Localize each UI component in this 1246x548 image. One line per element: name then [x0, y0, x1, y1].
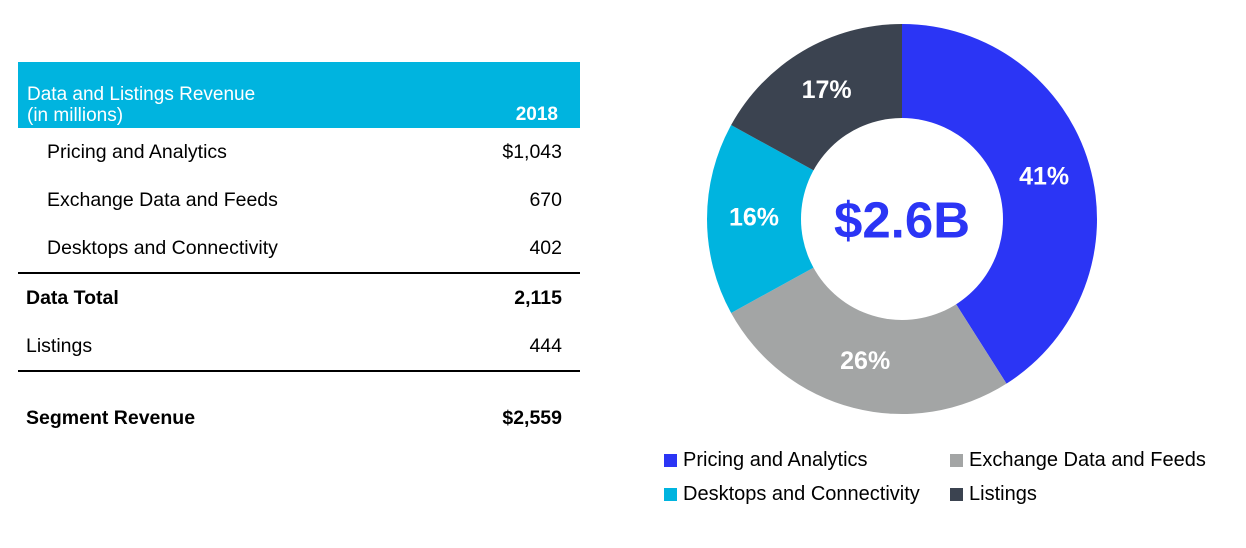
legend-item-exchange-data-and-feeds[interactable]: Exchange Data and Feeds	[950, 449, 1206, 472]
donut-chart-svg: $2.6B 41%26%16%17%	[692, 14, 1112, 424]
table-row: Exchange Data and Feeds 670	[18, 176, 580, 224]
legend-swatch-icon	[664, 454, 677, 467]
table-header-title: Data and Listings Revenue (in millions)	[27, 84, 255, 126]
table-row: Pricing and Analytics $1,043	[18, 128, 580, 176]
legend-label: Listings	[969, 483, 1037, 506]
table-row-label: Data Total	[18, 287, 119, 310]
legend-item-pricing-and-analytics[interactable]: Pricing and Analytics	[664, 449, 950, 472]
table-row-listings: Listings 444	[18, 322, 580, 370]
table-row-label: Pricing and Analytics	[18, 141, 227, 164]
table-row-label: Desktops and Connectivity	[18, 237, 278, 260]
donut-slice-percent-label: 17%	[802, 76, 852, 104]
legend-row: Pricing and Analytics Exchange Data and …	[664, 443, 1234, 477]
donut-slice-percent-label: 41%	[1019, 162, 1069, 190]
table-row-value: 2,115	[514, 287, 562, 310]
table-row-value: $2,559	[502, 407, 562, 430]
table-header-year: 2018	[516, 104, 558, 126]
legend-swatch-icon	[950, 454, 963, 467]
table-row: Desktops and Connectivity 402	[18, 224, 580, 272]
chart-legend: Pricing and Analytics Exchange Data and …	[664, 443, 1234, 511]
table-row-data-total: Data Total 2,115	[18, 274, 580, 322]
table-row-label: Segment Revenue	[18, 407, 195, 430]
legend-swatch-icon	[664, 488, 677, 501]
legend-label: Desktops and Connectivity	[683, 483, 920, 506]
table-row-value: $1,043	[502, 141, 562, 164]
legend-item-desktops-and-connectivity[interactable]: Desktops and Connectivity	[664, 483, 950, 506]
donut-center-label: $2.6B	[834, 191, 970, 248]
table-spacer	[18, 372, 580, 394]
table-row-label: Listings	[18, 335, 92, 358]
table-row-segment-revenue: Segment Revenue $2,559	[18, 394, 580, 442]
donut-slice-percent-label: 26%	[840, 347, 890, 375]
legend-swatch-icon	[950, 488, 963, 501]
table-row-value: 670	[529, 189, 562, 212]
table-row-value: 444	[529, 335, 562, 358]
table-row-label: Exchange Data and Feeds	[18, 189, 278, 212]
donut-chart: $2.6B 41%26%16%17%	[692, 14, 1112, 424]
legend-row: Desktops and Connectivity Listings	[664, 477, 1234, 511]
table-row-value: 402	[529, 237, 562, 260]
legend-label: Pricing and Analytics	[683, 449, 868, 472]
table-header: Data and Listings Revenue (in millions) …	[18, 62, 580, 128]
legend-label: Exchange Data and Feeds	[969, 449, 1206, 472]
donut-slice-percent-label: 16%	[729, 204, 779, 232]
legend-item-listings[interactable]: Listings	[950, 483, 1037, 506]
revenue-table: Data and Listings Revenue (in millions) …	[18, 62, 580, 442]
